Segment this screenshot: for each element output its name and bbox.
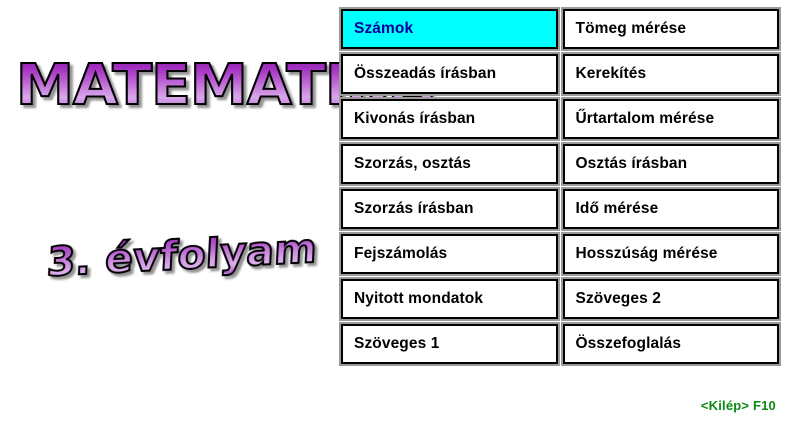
menu-item-szoveges-2[interactable]: Szöveges 2 (561, 277, 782, 321)
app-subtitle: 3. évfolyam (46, 229, 318, 283)
topic-menu-body: Számok Tömeg mérése Összeadás írásban Ke… (339, 7, 781, 366)
table-row: Szorzás írásban Idő mérése (339, 187, 781, 231)
menu-item-kivonas-irasban[interactable]: Kivonás írásban (339, 97, 560, 141)
menu-item-ido-merese[interactable]: Idő mérése (561, 187, 782, 231)
menu-item-osszeadas-irasban[interactable]: Összeadás írásban (339, 52, 560, 96)
title-panel: MATEMATIKA 3. évfolyam (0, 0, 332, 425)
menu-item-szoveges-1[interactable]: Szöveges 1 (339, 322, 560, 366)
exit-hint[interactable]: <Kilép> F10 (701, 398, 776, 413)
menu-item-szamok[interactable]: Számok (339, 7, 560, 51)
menu-item-szorzas-osztas[interactable]: Szorzás, osztás (339, 142, 560, 186)
table-row: Összeadás írásban Kerekítés (339, 52, 781, 96)
topic-menu-table: Számok Tömeg mérése Összeadás írásban Ke… (338, 6, 782, 367)
menu-item-osszefoglalas[interactable]: Összefoglalás (561, 322, 782, 366)
menu-item-kerekites[interactable]: Kerekítés (561, 52, 782, 96)
menu-item-nyitott-mondatok[interactable]: Nyitott mondatok (339, 277, 560, 321)
menu-item-osztas-irasban[interactable]: Osztás írásban (561, 142, 782, 186)
table-row: Nyitott mondatok Szöveges 2 (339, 277, 781, 321)
table-row: Számok Tömeg mérése (339, 7, 781, 51)
table-row: Szorzás, osztás Osztás írásban (339, 142, 781, 186)
menu-item-urtartalom-merese[interactable]: Űrtartalom mérése (561, 97, 782, 141)
table-row: Szöveges 1 Összefoglalás (339, 322, 781, 366)
menu-item-tomeg-merese[interactable]: Tömeg mérése (561, 7, 782, 51)
application-screen: MATEMATIKA 3. évfolyam Számok Tömeg méré… (0, 0, 790, 425)
table-row: Kivonás írásban Űrtartalom mérése (339, 97, 781, 141)
menu-item-hosszusag-merese[interactable]: Hosszúság mérése (561, 232, 782, 276)
menu-item-fejszamolas[interactable]: Fejszámolás (339, 232, 560, 276)
table-row: Fejszámolás Hosszúság mérése (339, 232, 781, 276)
menu-item-szorzas-irasban[interactable]: Szorzás írásban (339, 187, 560, 231)
